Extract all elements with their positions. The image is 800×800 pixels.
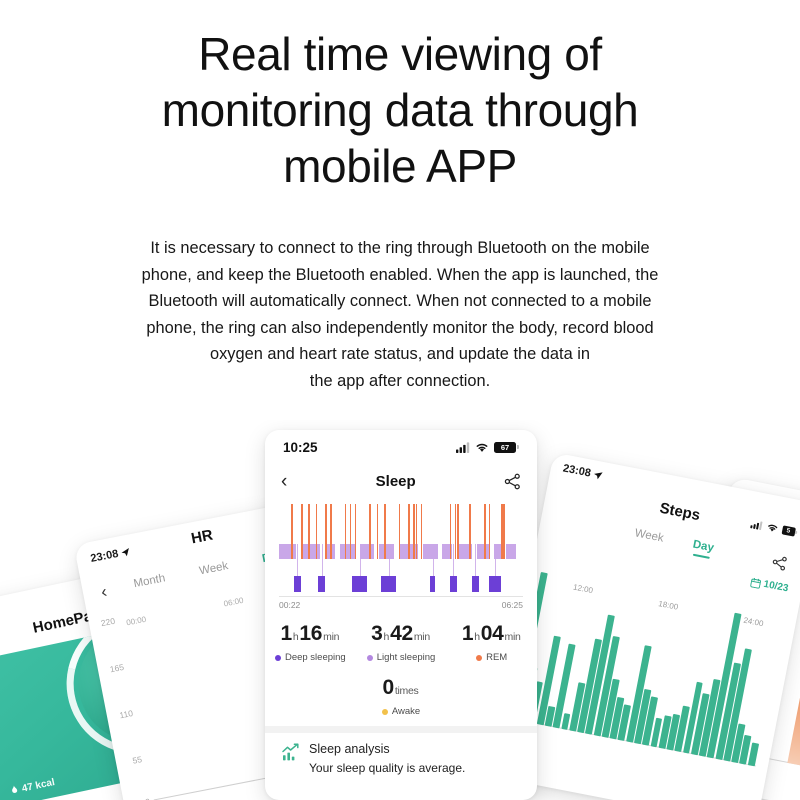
light-minutes-unit: min <box>414 631 430 643</box>
sleep-rem-spike <box>308 504 310 559</box>
sleep-rem-spike <box>301 504 303 559</box>
promo-page: Real time viewing of monitoring data thr… <box>0 0 800 800</box>
sleep-stat-rem-label: REM <box>486 652 507 663</box>
awake-count: 0 <box>383 676 394 699</box>
deep-minutes: 16 <box>299 622 322 645</box>
deep-hours: 1 <box>280 622 291 645</box>
sleep-rem-spike <box>345 504 347 559</box>
signal-icon <box>456 442 470 453</box>
sleep-rem-spike <box>325 504 327 559</box>
homepage-kcal: 47 kcal <box>9 777 56 797</box>
steps-chart: 12:00 18:00 24:00 <box>512 572 784 767</box>
flame-icon <box>9 785 20 798</box>
sleep-deep-segment <box>381 576 396 592</box>
deep-hours-unit: h <box>293 631 299 643</box>
sleep-axis-start: 00:22 <box>279 600 300 610</box>
hr-ytick-55: 55 <box>131 754 142 766</box>
sleep-status-time: 10:25 <box>283 440 318 455</box>
hr-tab-month[interactable]: Month <box>133 572 167 590</box>
sleep-rem-spike <box>350 504 352 559</box>
steps-status-time-text: 23:08 <box>562 462 592 479</box>
rem-hours-unit: h <box>474 631 480 643</box>
sleep-rem-spike <box>457 504 459 559</box>
chart-analysis-icon <box>281 743 300 775</box>
sleep-nav-bar: ‹ Sleep <box>265 464 537 498</box>
steps-tab-day[interactable]: Day <box>692 539 715 555</box>
intro-line-5: oxygen and heart rate status, and update… <box>48 341 752 368</box>
sleep-rem-spike <box>316 504 318 559</box>
sleep-rem-spike <box>384 504 386 559</box>
sleep-rem-spike <box>503 504 505 559</box>
headline-line-3: mobile APP <box>60 138 740 194</box>
sleep-stat-rem: 1h04min REM <box>446 622 537 663</box>
sleep-light-segment <box>477 544 489 558</box>
awake-dot-icon <box>382 709 388 715</box>
sleep-rem-spike <box>369 504 371 559</box>
light-hours-unit: h <box>384 631 390 643</box>
calendar-icon <box>750 577 762 589</box>
sleep-analysis-subtitle: Your sleep quality is average. <box>309 761 523 775</box>
sleep-rem-spike <box>413 504 415 559</box>
sleep-stat-rem-value: 1h04min <box>446 622 537 646</box>
intro-line-6: the app after connection. <box>48 368 752 395</box>
deep-sleep-dot-icon <box>275 655 281 661</box>
sleep-title: Sleep <box>376 473 416 490</box>
sleep-light-segment <box>506 544 516 558</box>
intro-line-2: phone, and keep the Bluetooth enabled. W… <box>48 262 752 289</box>
light-minutes: 42 <box>390 622 413 645</box>
sleep-deep-segment <box>352 576 367 592</box>
intro-paragraph: It is necessary to connect to the ring t… <box>48 235 752 394</box>
rem-hours: 1 <box>462 622 473 645</box>
sleep-rem-spike <box>355 504 357 559</box>
wifi-icon <box>475 442 489 453</box>
sleep-deep-segment <box>294 576 301 592</box>
sleep-rem-spike <box>501 504 503 559</box>
page-title: Real time viewing of monitoring data thr… <box>60 26 740 194</box>
sleep-screen-card[interactable]: 10:25 <box>265 430 537 800</box>
steps-xtick-1800: 18:00 <box>658 599 679 612</box>
sleep-rem-spike <box>330 504 332 559</box>
sleep-deep-segment <box>489 576 501 592</box>
sleep-stat-light: 3h42min Light sleeping <box>356 622 447 663</box>
sleep-analysis-text: Sleep analysis Your sleep quality is ave… <box>309 742 523 775</box>
sleep-stat-awake: 0times Awake <box>265 676 537 717</box>
sleep-light-segment <box>340 544 355 558</box>
steps-date-text: 10/23 <box>763 579 790 595</box>
sleep-light-segment <box>301 544 321 558</box>
sleep-rem-spike <box>484 504 486 559</box>
sleep-analysis-section[interactable]: Sleep analysis Your sleep quality is ave… <box>281 742 523 775</box>
sleep-deep-segment <box>318 576 325 592</box>
sleep-stat-deep-value: 1h16min <box>265 622 356 646</box>
steps-date-picker[interactable]: 10/23 <box>750 576 789 594</box>
sleep-status-icons: 67 <box>456 442 519 453</box>
sleep-stat-deep-label: Deep sleeping <box>285 652 346 663</box>
intro-line-4: phone, the ring can also independently m… <box>48 315 752 342</box>
sleep-rem-spike <box>408 504 410 559</box>
sleep-chart-axis <box>279 596 523 597</box>
sleep-stat-light-value: 3h42min <box>356 622 447 646</box>
light-hours: 3 <box>371 622 382 645</box>
hr-tab-week[interactable]: Week <box>198 560 229 577</box>
sleep-rem-spike <box>377 504 379 559</box>
steps-xtick-2400: 24:00 <box>743 616 764 629</box>
steps-screen-card[interactable]: 23:08 Steps <box>491 452 800 800</box>
sleep-rem-spike <box>416 504 418 559</box>
rem-minutes-unit: min <box>505 631 521 643</box>
sleep-status-bar: 10:25 <box>265 430 537 464</box>
chevron-left-icon[interactable]: ‹ <box>281 472 287 491</box>
sleep-rem-spike <box>291 504 293 559</box>
sleep-stat-awake-label: Awake <box>392 706 420 717</box>
steps-status-time: 23:08 <box>562 462 604 481</box>
rem-minutes: 04 <box>481 622 504 645</box>
sleep-light-segment <box>360 544 375 558</box>
share-icon[interactable] <box>504 473 521 490</box>
battery-tip <box>517 445 519 449</box>
sleep-rem-spike <box>455 504 457 559</box>
rem-dot-icon <box>476 655 482 661</box>
hr-ytick-0: 0 <box>144 796 151 800</box>
sleep-stat-light-label: Light sleeping <box>377 652 436 663</box>
sleep-stats-row: 1h16min Deep sleeping 3h42min Light slee… <box>265 622 537 663</box>
hr-ytick-220: 220 <box>100 615 116 628</box>
deep-minutes-unit: min <box>323 631 339 643</box>
hr-ytick-110: 110 <box>119 708 134 720</box>
location-arrow-icon <box>593 470 604 481</box>
sleep-stat-awake-value: 0times <box>265 676 537 700</box>
sleep-deep-segment <box>450 576 457 592</box>
homepage-kcal-text: 47 kcal <box>21 777 56 795</box>
steps-tab-week[interactable]: Week <box>634 527 665 544</box>
sleep-light-segment <box>423 544 438 558</box>
awake-unit: times <box>395 685 419 697</box>
sleep-rem-spike <box>469 504 471 559</box>
intro-line-1: It is necessary to connect to the ring t… <box>48 235 752 262</box>
headline-line-1: Real time viewing of <box>60 26 740 82</box>
headline-line-2: monitoring data through <box>60 82 740 138</box>
hr-xtick-0600: 06:00 <box>223 596 244 609</box>
sleep-rem-spike <box>450 504 452 559</box>
sleep-rem-spike <box>399 504 401 559</box>
steps-xtick-1200: 12:00 <box>572 583 593 596</box>
sleep-rem-spike <box>489 504 491 559</box>
sleep-deep-segment <box>472 576 479 592</box>
sleep-stat-deep-label-row: Deep sleeping <box>265 652 356 663</box>
sleep-stat-deep: 1h16min Deep sleeping <box>265 622 356 663</box>
battery-level-text: 67 <box>494 442 516 453</box>
battery-icon: 67 <box>494 442 519 453</box>
sleep-section-divider <box>265 726 537 733</box>
hr-ytick-165: 165 <box>109 662 125 675</box>
sleep-axis-end: 06:25 <box>502 600 523 610</box>
sleep-analysis-title: Sleep analysis <box>309 742 523 756</box>
share-icon[interactable] <box>771 554 789 572</box>
sleep-hypnogram-chart <box>279 504 523 592</box>
light-sleep-dot-icon <box>367 655 373 661</box>
sleep-deep-segment <box>430 576 435 592</box>
hr-xtick-0000: 00:00 <box>126 615 147 628</box>
sleep-rem-spike <box>421 504 423 559</box>
sleep-stat-light-label-row: Light sleeping <box>356 652 447 663</box>
intro-line-3: Bluetooth will automatically connect. Wh… <box>48 288 752 315</box>
sleep-stat-rem-label-row: REM <box>446 652 537 663</box>
sleep-light-segment <box>379 544 394 558</box>
sleep-light-segment <box>279 544 296 558</box>
sleep-stat-awake-label-row: Awake <box>265 706 537 717</box>
app-screens-collage: 10:25 HomePage Steps 1162 47 kcal <box>0 420 800 800</box>
